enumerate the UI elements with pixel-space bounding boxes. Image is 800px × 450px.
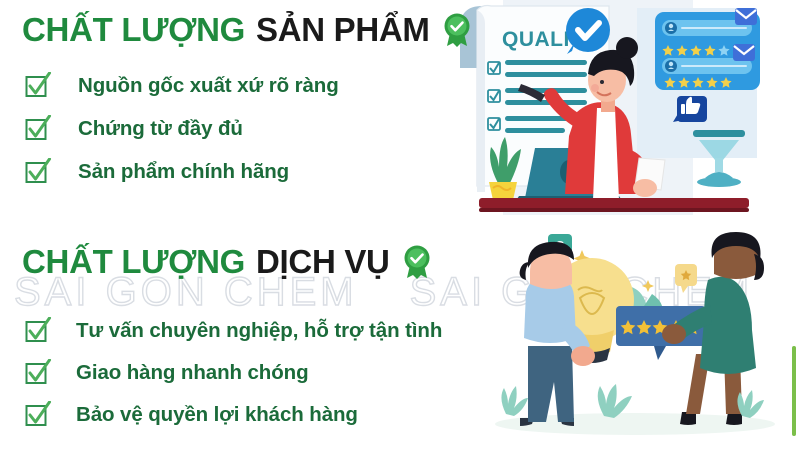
list-item-label: Giao hàng nhanh chóng [76,361,309,385]
checkbox-checked-icon [24,158,52,186]
list-item-label: Nguồn gốc xuất xứ rõ ràng [78,74,339,98]
section-1-list: Nguồn gốc xuất xứ rõ ràng Chứng từ đầy đ… [24,64,339,193]
verified-rosette-icon [442,13,472,47]
checkbox-checked-icon [24,359,52,387]
text-content-column: CHẤT LƯỢNG SẢN PHẨM [0,0,470,450]
desk-edge [479,208,749,212]
heading-green-part: CHẤT LƯỢNG [22,11,245,49]
review-cards-panel [655,8,760,90]
document-curl [477,10,485,192]
idea-bubble-icon [675,264,697,293]
section-2-list: Tư vấn chuyên nghiệp, hỗ trợ tận tình Gi… [24,310,442,436]
heading-dark-part: SẢN PHẨM [256,11,430,49]
list-item: Chứng từ đầy đủ [24,107,339,150]
quality-review-illustration: QUALITY [455,0,800,218]
list-item-label: Sản phẩm chính hãng [78,160,289,184]
list-item: Bảo vệ quyền lợi khách hàng [24,394,442,436]
infographic-page: SAI GON CHEM SAI GON CHEM QUALITY [0,0,800,450]
envelope-icon-2 [733,44,755,61]
list-item: Nguồn gốc xuất xứ rõ ràng [24,64,339,107]
heading-dark-part: DỊCH VỤ [256,243,390,281]
envelope-icon [735,8,757,25]
heading-green-part: CHẤT LƯỢNG [22,243,245,281]
section-1-heading: CHẤT LƯỢNG SẢN PHẨM [22,11,472,49]
checkbox-checked-icon [24,401,52,429]
thumbs-up-icon [673,96,707,122]
desk-surface [479,198,749,208]
list-item: Sản phẩm chính hãng [24,150,339,193]
list-item: Tư vấn chuyên nghiệp, hỗ trợ tận tình [24,310,442,352]
checkbox-checked-icon [24,115,52,143]
service-quality-illustration: ? [470,228,800,450]
checkbox-checked-icon [24,317,52,345]
checkbox-checked-icon [24,72,52,100]
list-item-label: Chứng từ đầy đủ [78,117,243,141]
right-edge-accent [792,346,796,436]
list-item-label: Bảo vệ quyền lợi khách hàng [76,403,358,427]
list-item-label: Tư vấn chuyên nghiệp, hỗ trợ tận tình [76,319,442,343]
section-2-heading: CHẤT LƯỢNG DỊCH VỤ [22,243,432,281]
verified-rosette-icon [402,245,432,279]
list-item: Giao hàng nhanh chóng [24,352,442,394]
